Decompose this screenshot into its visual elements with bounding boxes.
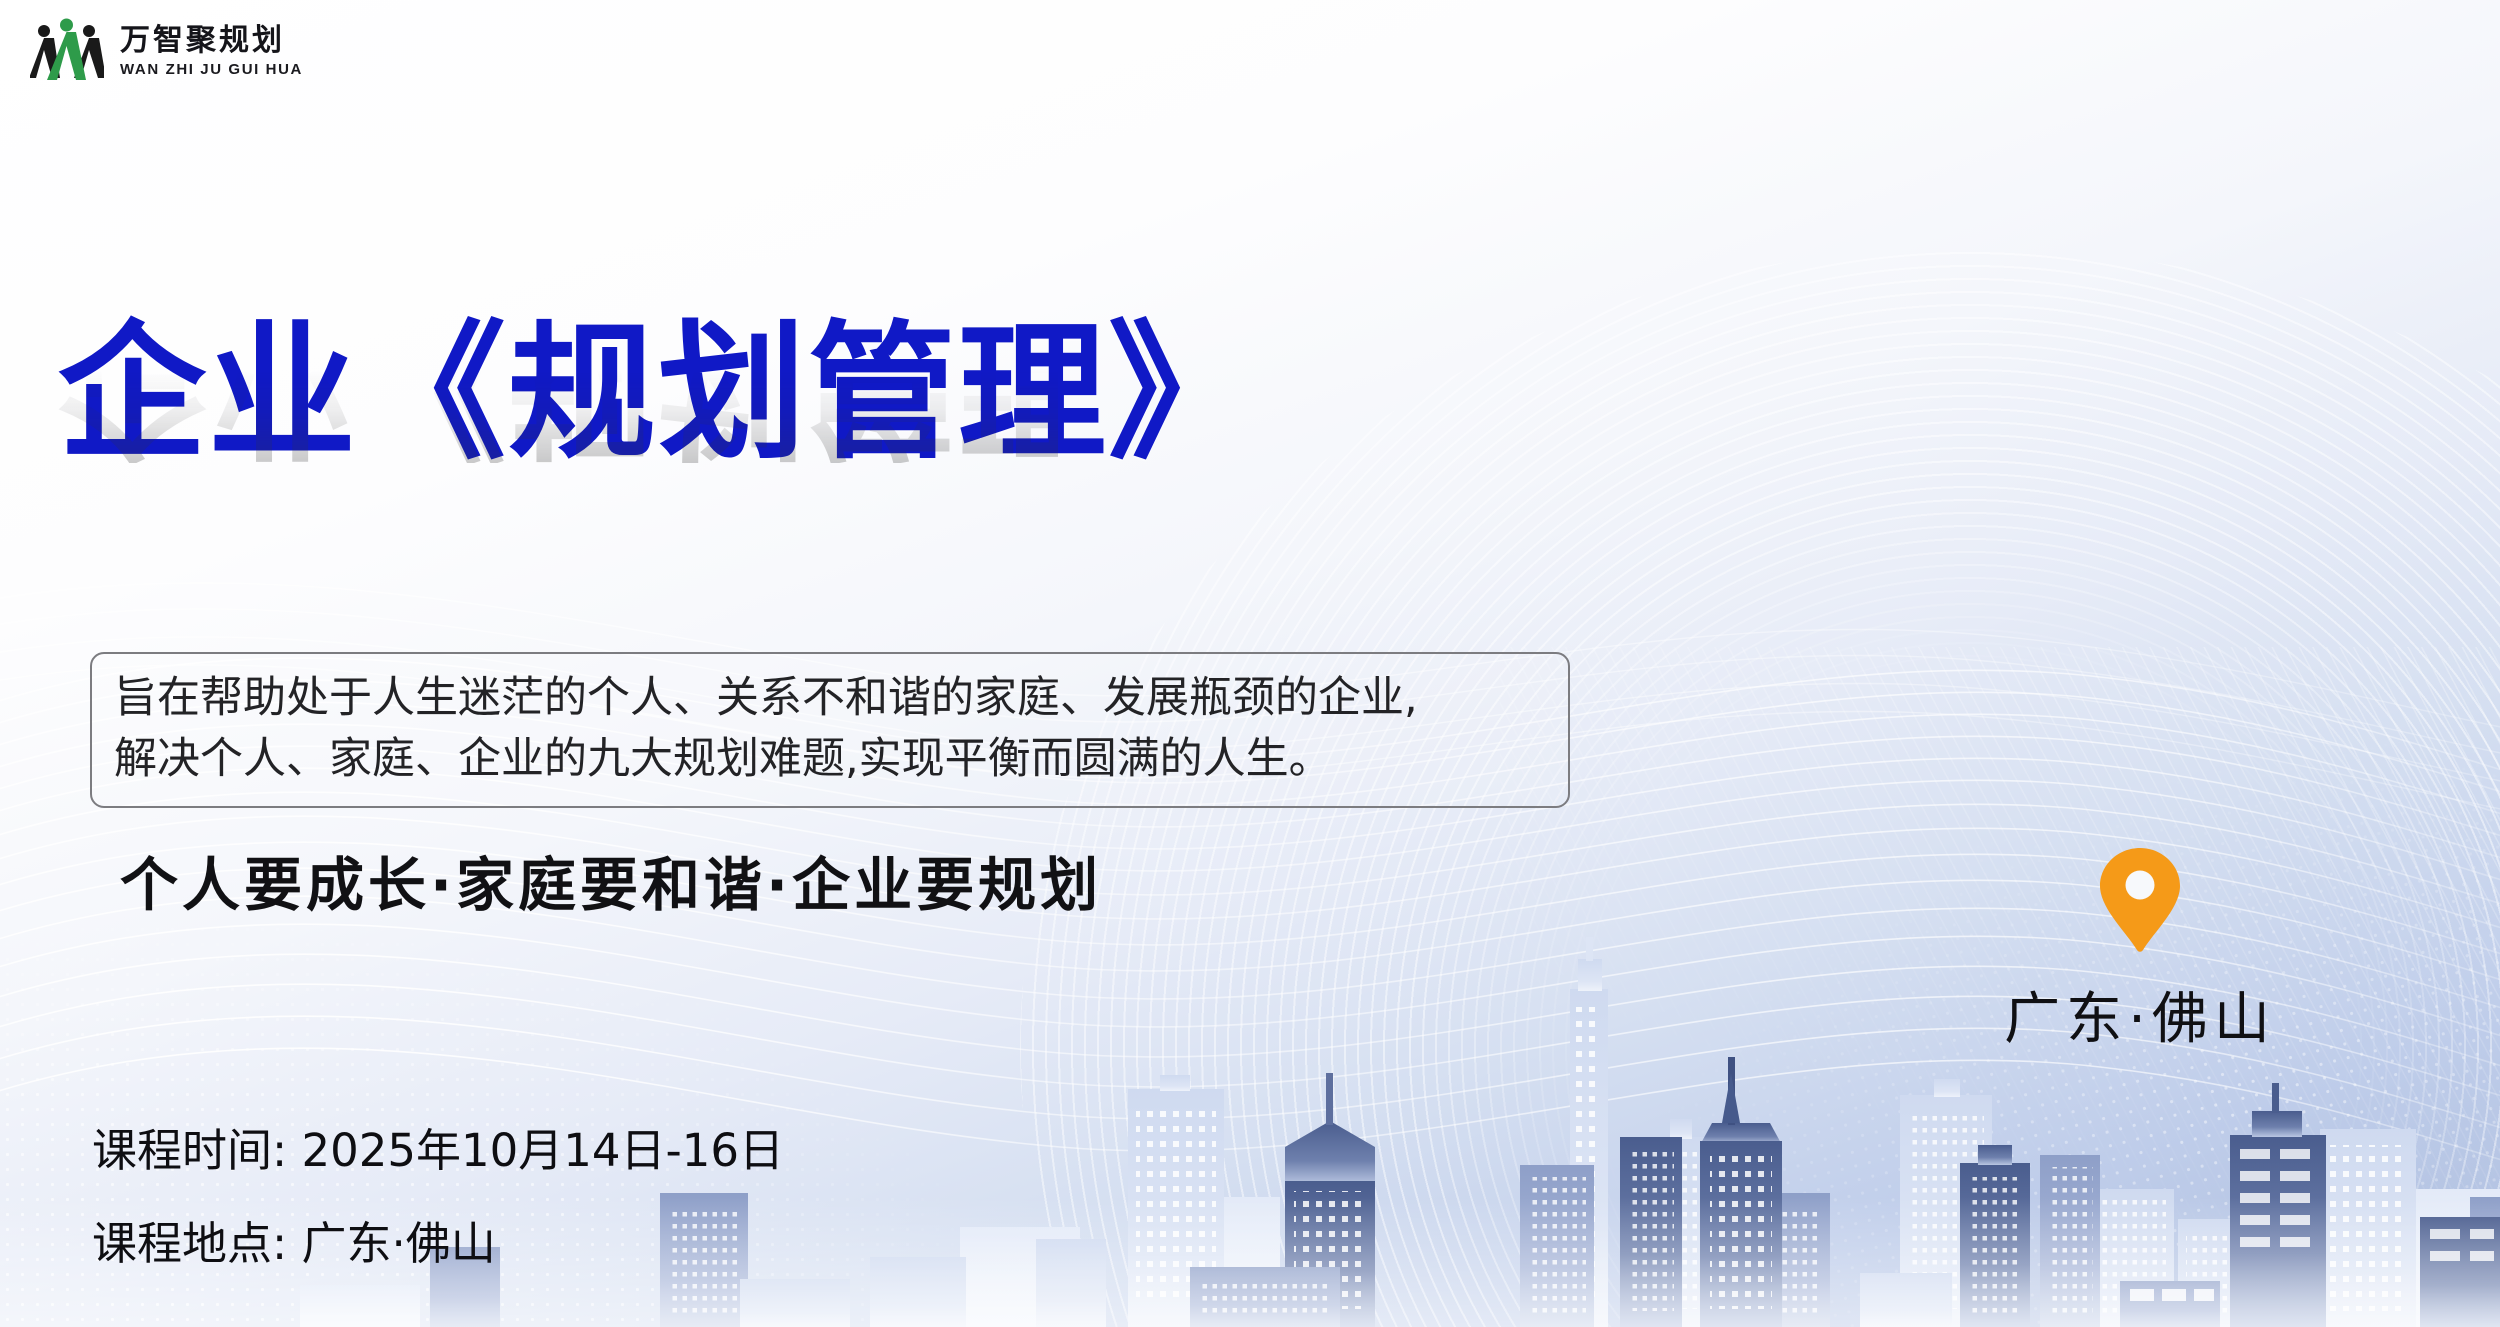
location-marker: 广东·佛山 [1930, 846, 2350, 1055]
hero-title-block: 企业《规划管理》 企业《规划管理》 [58, 318, 1058, 614]
brand-name-en: WAN ZHI JU GUI HUA [120, 62, 303, 77]
course-time-row: 课程时间: 2025年10月14日-16日 [92, 1128, 784, 1173]
brand-name: 万智聚规划 WAN ZHI JU GUI HUA [120, 26, 303, 77]
brand-name-cn: 万智聚规划 [120, 26, 303, 56]
description-box: 旨在帮助处于人生迷茫的个人、关系不和谐的家庭、发展瓶颈的企业, 解决个人、家庭、… [90, 652, 1570, 808]
poster-canvas: 万智聚规划 WAN ZHI JU GUI HUA 企业《规划管理》 企业《规划管… [0, 0, 2500, 1327]
description-line-1: 旨在帮助处于人生迷茫的个人、关系不和谐的家庭、发展瓶颈的企业, [114, 668, 1546, 729]
description-line-2: 解决个人、家庭、企业的九大规划难题,实现平衡而圆满的人生。 [114, 729, 1546, 790]
brand-logo[interactable]: 万智聚规划 WAN ZHI JU GUI HUA [30, 18, 303, 84]
course-info: 课程时间: 2025年10月14日-16日 课程地点: 广东·佛山 [92, 1128, 784, 1266]
page-title-reflection: 企业《规划管理》 [58, 312, 1058, 463]
location-label: 广东·佛山 [1930, 974, 2350, 1055]
slogan-text: 个人要成长·家庭要和谐·企业要规划 [120, 838, 1102, 922]
map-pin-icon [2098, 846, 2182, 954]
three-people-logo-icon [30, 18, 104, 84]
course-place-row: 课程地点: 广东·佛山 [92, 1221, 784, 1266]
